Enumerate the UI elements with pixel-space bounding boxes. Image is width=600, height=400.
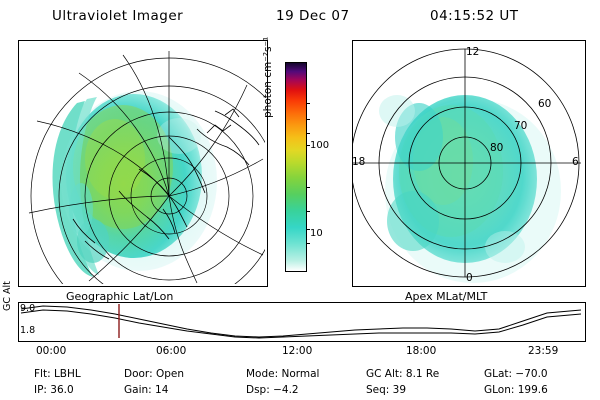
apex-aurora-field xyxy=(379,95,561,283)
footer-flt: Flt: LBHL xyxy=(34,368,81,380)
footer-ip: IP: 36.0 xyxy=(34,384,74,396)
observation-time: 04:15:52 UT xyxy=(430,8,519,24)
uvi-summary-plot: Ultraviolet Imager 19 Dec 07 04:15:52 UT xyxy=(0,0,600,400)
apex-plot-svg xyxy=(353,41,583,284)
apex-mlat-label-60: 60 xyxy=(538,98,551,110)
geographic-plot-svg xyxy=(19,41,265,284)
apex-mlat-label-80: 80 xyxy=(490,142,503,154)
footer-gain: Gain: 14 xyxy=(124,384,168,396)
header: Ultraviolet Imager 19 Dec 07 04:15:52 UT xyxy=(0,8,600,30)
apex-mlat-label-70: 70 xyxy=(514,120,527,132)
footer-glat: GLat: −70.0 xyxy=(484,368,548,380)
footer-door: Door: Open xyxy=(124,368,184,380)
xtick-4: 23:59 xyxy=(528,345,558,357)
altitude-ytick-min: 1.8 xyxy=(20,325,35,336)
colorbar-tick-10: 10 xyxy=(310,228,323,239)
altitude-trace-svg xyxy=(19,303,583,339)
apex-mlt-label-12: 12 xyxy=(466,46,479,58)
instrument-title: Ultraviolet Imager xyxy=(52,8,183,24)
colorbar xyxy=(285,62,307,272)
observation-date: 19 Dec 07 xyxy=(276,8,350,24)
altitude-plot-panel xyxy=(18,302,586,342)
altitude-ytick-max: 9.0 xyxy=(20,303,35,314)
colorbar-gradient xyxy=(286,63,306,271)
altitude-axis-label: GC Alt xyxy=(2,281,13,311)
xtick-3: 18:00 xyxy=(406,345,436,357)
apex-image-panel xyxy=(352,40,586,287)
colorbar-title: photon cm⁻²s⁻¹ xyxy=(262,104,274,118)
apex-mlt-label-18: 18 xyxy=(352,156,365,168)
apex-mlt-label-6: 6 xyxy=(572,156,579,168)
footer-glon: GLon: 199.6 xyxy=(484,384,548,396)
footer-mode: Mode: Normal xyxy=(246,368,319,380)
geographic-aurora-field xyxy=(53,91,218,277)
footer-seq: Seq: 39 xyxy=(366,384,406,396)
xtick-1: 06:00 xyxy=(156,345,186,357)
footer-dsp: Dsp: −4.2 xyxy=(246,384,299,396)
apex-mlt-label-0: 0 xyxy=(466,272,473,284)
colorbar-tick-100: 100 xyxy=(310,140,329,151)
xtick-2: 12:00 xyxy=(282,345,312,357)
footer-gcalt: GC Alt: 8.1 Re xyxy=(366,368,439,380)
geographic-image-panel xyxy=(18,40,268,287)
xtick-0: 00:00 xyxy=(36,345,66,357)
